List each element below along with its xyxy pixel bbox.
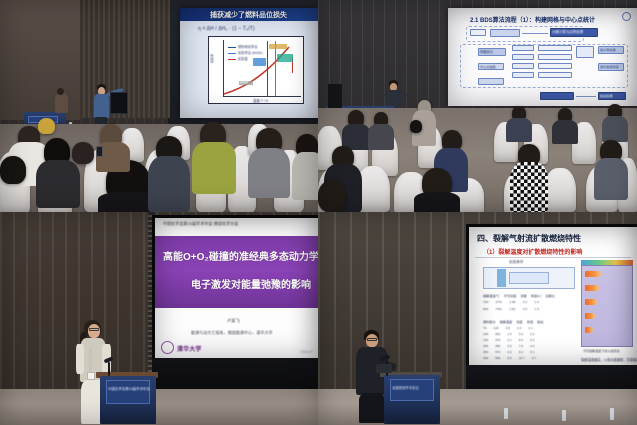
flowchart-node-highlight (540, 92, 574, 100)
flame-colorbar-icon (581, 260, 633, 265)
audience-head (0, 156, 26, 184)
projection-screen-2: 2.1 BDS算法流程（1）：构建网格与中心点统计 分解计算与边界处理 网格划分… (448, 8, 637, 106)
slide-4-title: 四、裂解气射流扩散燃烧特性 (477, 233, 581, 244)
audience-body (506, 118, 532, 142)
wall-left-panel (0, 0, 80, 120)
slide-4-flame-caption: 不同裂解温度下的火焰形态 (583, 349, 620, 353)
stage-floor (0, 389, 318, 425)
audience-body (248, 148, 290, 198)
attendee-phone (96, 146, 103, 157)
chart-annotation-1 (269, 44, 287, 49)
slide-4-table2-row: 100 250 1.5 3.0 2.2 (483, 332, 534, 336)
flowchart-node-label: 网格划分 (480, 49, 493, 54)
flowchart-node (512, 63, 534, 69)
projection-screen-3: 中国化学会第33届学术年会·燃烧化学分会 高能O+O₂碰撞的准经典多态动力学模拟… (155, 218, 318, 358)
flowchart-node-label: 分解计算与边界处理 (552, 29, 583, 34)
podium-3-sign-text: 中国化学会第33届学术年会 (108, 386, 150, 391)
audience-body (148, 156, 190, 212)
university-seal-icon (622, 12, 631, 21)
slide-3-title-line2: 电子激发对能量弛豫的影响 (191, 276, 311, 291)
flowchart-node-label: 中心点提取 (480, 64, 496, 69)
presenter-3-arm (76, 344, 84, 374)
audience-body (368, 124, 394, 150)
audience-body (594, 158, 628, 200)
slide-4-table2-headers: 燃料组分 裂解温度 浓度 热值 输出 (483, 319, 544, 324)
flame-image (585, 299, 597, 305)
presenter-4-legs (359, 393, 385, 423)
audience-body (292, 152, 318, 200)
presenter-3-head (88, 324, 100, 338)
slide-3-banner (155, 236, 318, 308)
slide-3: 中国化学会第33届学术年会·燃烧化学分会 高能O+O₂碰撞的准经典多态动力学模拟… (155, 218, 318, 358)
flowchart-arrow (576, 96, 596, 97)
presenter-3-glasses-icon (89, 328, 99, 331)
slide-3-title-line1: 高能O+O₂碰撞的准经典多态动力学模拟： (163, 248, 318, 263)
projection-screen-1: 捕获减少了燃料品位损失 η = ΔH / ΔH₀ · (1 − T₀/T) 燃料… (180, 8, 318, 118)
slide-4-table2-row: 280 480 3.0 7.6 4.0 (483, 344, 534, 348)
slide-2: 2.1 BDS算法流程（1）：构建网格与中心点统计 分解计算与边界处理 网格划分… (448, 8, 637, 106)
slide-1-title: 捕获减少了燃料品位损失 (210, 10, 287, 20)
flowchart-node-label: 统计特征量 (600, 47, 616, 52)
collage-panel-top-left[interactable]: 捕获减少了燃料品位损失 η = ΔH / ΔH₀ · (1 − T₀/T) 燃料… (0, 0, 318, 212)
slide-4-table1-row: 700 27% 1.08 4.2 1.0 (483, 300, 539, 304)
water-bottle (562, 410, 566, 421)
seated-person-left-head (57, 88, 64, 95)
apparatus-chamber-icon (509, 272, 549, 284)
microphone-3 (108, 362, 110, 376)
slide-1-equation: η = ΔH / ΔH₀ · (1 − T₀/T) (198, 26, 255, 32)
apparatus-burner-icon (497, 269, 506, 287)
chart-marker-line-green (275, 41, 276, 96)
flowchart-node (512, 45, 534, 51)
slide-3-header: 中国化学会第33届学术年会·燃烧化学分会 (163, 221, 238, 227)
audience-body (602, 116, 628, 142)
presenter-1-torso (94, 94, 109, 118)
podium-4-sign (390, 379, 434, 401)
flowchart-node-label: 迭代收敛判定 (600, 64, 619, 69)
slide-4-flame-panel (581, 265, 633, 347)
chart-xlabel: 温度 T / K (253, 98, 268, 103)
audience-head (410, 120, 422, 133)
slide-4-left-block-label: 实验条件 (509, 260, 524, 265)
tsinghua-university-logo-icon (161, 341, 174, 354)
chart-curve (223, 40, 301, 97)
audience-chair (544, 168, 576, 212)
photo-collage: 捕获减少了燃料品位损失 η = ΔH / ΔH₀ · (1 − T₀/T) 燃料… (0, 0, 637, 425)
audience-body (510, 162, 548, 212)
presenter-4-laptop (376, 364, 392, 373)
collage-panel-bottom-right[interactable]: 四、裂解气射流扩散燃烧特性 （1）裂解温度对扩散燃烧特性的影响 实验条件 裂解温… (318, 212, 637, 425)
water-bottle (504, 408, 508, 419)
slide-4-table1-row: 800 74% 1.62 4.5 1.0 (483, 307, 539, 311)
slide-4-table2-row: 350 570 4.2 9.2 5.1 (483, 350, 534, 354)
flowchart-node (490, 29, 520, 37)
slide-4-subtitle: （1）裂解温度对扩散燃烧特性的影响 (483, 247, 582, 256)
flowchart-node (576, 46, 594, 58)
slide-1-chart: 燃料电化学法 实际学法 ΔH/ΔH₀ 实际值 (208, 36, 304, 104)
flowchart-node (538, 72, 572, 78)
slide-1: 捕获减少了燃料品位损失 η = ΔH / ΔH₀ · (1 − T₀/T) 燃料… (180, 8, 318, 118)
audience-head (38, 118, 55, 134)
projection-screen-4: 四、裂解气射流扩散燃烧特性 （1）裂解温度对扩散燃烧特性的影响 实验条件 裂解温… (469, 227, 637, 365)
flowchart-node (470, 29, 486, 36)
chart-ylabel: 捐失率 (210, 54, 214, 63)
podium-4-sign-text: 全国燃烧学术会议 (392, 385, 419, 390)
flowchart-node (478, 78, 504, 85)
seated-person-left (55, 92, 68, 113)
slide-4-footnote: 裂解温度越高，火焰长度越短，亮度越高。 (581, 357, 637, 362)
slide-3-author: 卢某飞 (227, 318, 240, 324)
chart-annotation-3 (277, 54, 293, 62)
collage-panel-top-right[interactable]: 2.1 BDS算法流程（1）：构建网格与中心点统计 分解计算与边界处理 网格划分… (318, 0, 637, 212)
flowchart-node (538, 45, 572, 51)
audience-body (414, 192, 460, 212)
chart-marker-line-blue (267, 41, 268, 96)
slide-3-logo-text: 清华大学 (177, 344, 201, 353)
presenter-4-glasses-icon (367, 338, 377, 341)
slide-3-date: 2024.07 (300, 350, 313, 354)
flame-image (585, 285, 599, 291)
confidence-monitor (110, 92, 128, 114)
flame-image (585, 327, 593, 333)
slide-4-table2-row: 70 120 0.8 2.4 1.1 (483, 326, 533, 330)
presenter-3-badge (87, 372, 95, 380)
slide-4-table2-row: 400 660 5.5 10.7 6.7 (483, 356, 536, 360)
flame-image (585, 271, 601, 277)
flowchart-node (512, 54, 534, 60)
chart-annotation-2 (253, 58, 266, 66)
slide-4-table1-headers: 裂解温度/℃ 平均浓度 流量 热值/kJ 当量比 (483, 293, 555, 298)
flowchart-node-label: 输出结果 (600, 93, 613, 98)
presenter-2-arm-right (399, 93, 409, 97)
slide-4-divider (475, 257, 631, 258)
slide-2-title: 2.1 BDS算法流程（1）：构建网格与中心点统计 (470, 15, 595, 24)
slide-3-affiliation: 能源与动力工程系，燃烧能源中心，清华大学 (191, 330, 273, 336)
presenter-3-lanyard (89, 348, 92, 374)
slide-4-table2-row: 190 370 2.1 5.4 3.3 (483, 338, 534, 342)
collage-panel-bottom-left[interactable]: 中国化学会第33届学术年会·燃烧化学分会 高能O+O₂碰撞的准经典多态动力学模拟… (0, 212, 318, 425)
flowchart-node (512, 72, 534, 78)
slide-4: 四、裂解气射流扩散燃烧特性 （1）裂解温度对扩散燃烧特性的影响 实验条件 裂解温… (469, 227, 637, 365)
speaker-stack (328, 84, 342, 110)
water-bottle (610, 408, 614, 420)
flowchart-node (538, 54, 572, 60)
audience-body (36, 160, 80, 208)
audience-head (318, 180, 346, 212)
flame-image (585, 313, 595, 319)
podium-3-sign (106, 380, 150, 404)
audience-body (552, 120, 578, 144)
audience-body (192, 142, 236, 194)
flowchart-arrow (522, 33, 548, 34)
flowchart-node (538, 63, 572, 69)
chart-annotation-text: 捐失区 (240, 80, 249, 84)
audience-head (72, 142, 94, 164)
